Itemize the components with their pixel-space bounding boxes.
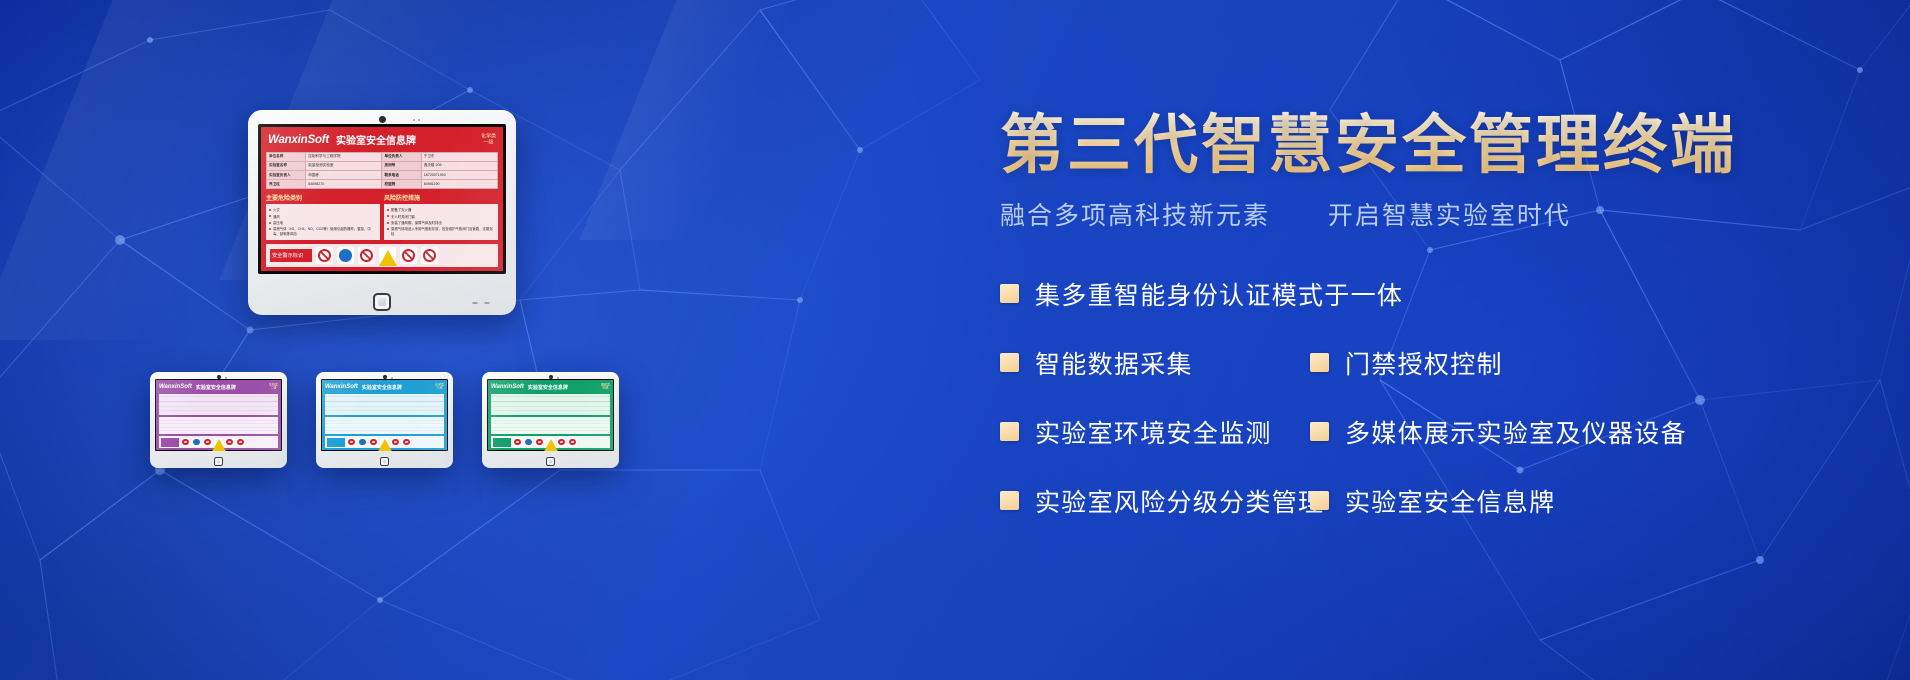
- no-smoking-icon: [347, 438, 356, 447]
- bullet-dot-icon: [269, 209, 271, 211]
- list-item-label: 配备了灭火器: [391, 207, 411, 212]
- board-table-placeholder: [491, 394, 610, 415]
- cell-key: 房间号: [382, 161, 421, 170]
- cell-key: 实验室名称: [267, 161, 306, 170]
- list-item-label: 火灾: [273, 207, 280, 212]
- table-row: 养卫柱 84698270 校医院 84981190: [267, 180, 498, 189]
- safety-signs-row: [159, 436, 278, 448]
- bullet-dot-icon: [269, 215, 271, 217]
- board-sections-placeholder: [159, 417, 278, 434]
- cell-key: 联系电话: [382, 170, 421, 179]
- hazard-category-title: 主要危险类别: [266, 193, 380, 202]
- bullet-dot-icon: [387, 215, 389, 217]
- hazard-category-list: 火灾 通风 高压电: [266, 204, 380, 240]
- risk-level-badge: 生物类 二级: [269, 384, 278, 391]
- board-title: 实验室安全信息牌: [362, 384, 402, 391]
- bullet-dot-icon: [269, 228, 271, 230]
- subtitle-left: 融合多项高科技新元素: [1000, 202, 1270, 230]
- board-header: WanxinSoft 实验室安全信息牌 生物类 二级: [159, 382, 278, 392]
- sensor-dots-icon: [413, 119, 420, 121]
- tablet-reflection: [316, 470, 453, 525]
- feature-label: 集多重智能身份认证模式于一体: [1035, 276, 1403, 312]
- warning-hazard-icon: [380, 438, 389, 447]
- wanxinsoft-logo: WanxinSoft: [491, 384, 524, 390]
- no-entry-icon: [391, 438, 400, 447]
- wanxinsoft-logo: WanxinSoft: [325, 384, 358, 390]
- risk-level-badge: 化学类 一级: [481, 134, 496, 146]
- board-title: 实验室安全信息牌: [528, 384, 568, 391]
- cell-value: 申国栋: [306, 170, 382, 179]
- feature-item-access-control: 门禁授权控制: [1310, 345, 1503, 381]
- no-food-icon: [568, 438, 577, 447]
- small-tablet-device-1: WanxinSoft 实验室安全信息牌 生物类 二级: [150, 372, 287, 468]
- feature-item-safety-board: 实验室安全信息牌: [1310, 483, 1555, 519]
- home-button[interactable]: [546, 457, 555, 466]
- board-header: WanxinSoft 实验室安全信息牌 化学类 一级: [266, 131, 498, 149]
- list-item-label: 安装了通风橱，保障气体及时排出: [391, 220, 442, 225]
- list-item-label: 易燃气体（H2、CH4、NO、CO2等）使用引起的爆炸、窒息、中毒、缺氧等风险: [273, 227, 377, 237]
- cell-value: 能量检测实验室: [306, 161, 382, 170]
- bullet-square-icon: [1310, 353, 1329, 372]
- risk-control-title: 风险防控措施: [384, 193, 498, 202]
- risk-level-badge: 化学类 三级: [435, 384, 444, 391]
- list-item: 无人时关闭门窗: [387, 214, 495, 219]
- table-row: 实验室负责人 申国栋 联系电话 18720071900: [267, 170, 498, 179]
- bullet-dot-icon: [387, 228, 389, 230]
- board-title: 实验室安全信息牌: [336, 132, 416, 147]
- tablet-reflection: [150, 470, 287, 525]
- front-camera-icon: [379, 116, 386, 123]
- bullet-square-icon: [1000, 284, 1019, 303]
- bullet-square-icon: [1000, 353, 1019, 372]
- wear-goggles-icon: [358, 438, 367, 447]
- feature-row: 实验室环境安全监测 多媒体展示实验室及仪器设备: [1000, 414, 1880, 450]
- safety-signs-label: 安全警示标识: [270, 249, 312, 262]
- small-tablet-screen-2[interactable]: WanxinSoft 实验室安全信息牌 化学类 三级: [321, 379, 448, 451]
- small-tablet-screen-1[interactable]: WanxinSoft 实验室安全信息牌 生物类 二级: [155, 379, 282, 451]
- feature-item-multimedia-display: 多媒体展示实验室及仪器设备: [1310, 414, 1687, 450]
- board-table-placeholder: [159, 394, 278, 415]
- feature-label: 实验室安全信息牌: [1345, 483, 1555, 519]
- safety-signs-row: [491, 436, 610, 448]
- page-subtitle: 融合多项高科技新元素 开启智慧实验室时代: [1000, 196, 1880, 232]
- risk-level-grade: 三级: [436, 386, 442, 390]
- risk-level-grade: 四级: [602, 386, 608, 390]
- no-food-icon: [402, 438, 411, 447]
- no-food-icon: [236, 438, 245, 447]
- list-item: 易燃气体（H2、CH4、NO、CO2等）使用引起的爆炸、窒息、中毒、缺氧等风险: [269, 227, 377, 237]
- cell-key: 养卫柱: [267, 180, 306, 189]
- feature-row: 智能数据采集 门禁授权控制: [1000, 345, 1880, 381]
- list-item: 火灾: [269, 207, 377, 212]
- feature-item-identity-auth: 集多重智能身份认证模式于一体: [1000, 276, 1403, 312]
- warning-hazard-icon: [546, 438, 555, 447]
- safety-signs-row: 安全警示标识: [266, 244, 498, 267]
- no-open-flame-icon: [358, 247, 375, 264]
- board-header: WanxinSoft 实验室安全信息牌 辐射类 四级: [491, 382, 610, 392]
- bullet-square-icon: [1000, 422, 1019, 441]
- list-item: 易燃气体用品入专用气瓶柜存放，检查维护气瓶阀门及管路，定期巡检: [387, 227, 495, 237]
- small-tablet-screen-3[interactable]: WanxinSoft 实验室安全信息牌 辐射类 四级: [487, 379, 614, 451]
- wear-goggles-icon: [192, 438, 201, 447]
- bullet-dot-icon: [269, 222, 271, 224]
- warning-hazard-icon: [214, 438, 223, 447]
- feature-label: 门禁授权控制: [1345, 345, 1503, 381]
- safety-info-board: WanxinSoft 实验室安全信息牌 化学类 三级: [322, 380, 447, 450]
- feature-label: 实验室风险分级分类管理: [1035, 483, 1324, 519]
- safety-signs-label: [493, 438, 511, 447]
- cell-key: 单位负责人: [382, 152, 421, 161]
- no-food-icon: [421, 247, 438, 264]
- safety-signs-label: [327, 438, 345, 447]
- wear-goggles-icon: [524, 438, 533, 447]
- hazard-category-section: 主要危险类别 火灾 通风: [266, 193, 380, 240]
- risk-control-section: 风险防控措施 配备了灭火器 无人时关闭门窗: [384, 193, 498, 240]
- no-entry-icon: [400, 247, 417, 264]
- main-tablet-screen[interactable]: WanxinSoft 实验室安全信息牌 化学类 一级 单位名称 控制科学与工程学…: [258, 124, 506, 274]
- list-item: 配备了灭火器: [387, 207, 495, 212]
- home-button[interactable]: [214, 457, 223, 466]
- list-item-label: 无人时关闭门窗: [391, 214, 415, 219]
- cell-key: 实验室负责人: [267, 170, 306, 179]
- feature-label: 实验室环境安全监测: [1035, 414, 1272, 450]
- cell-value: 于卫东: [421, 152, 497, 161]
- bullet-dot-icon: [387, 222, 389, 224]
- board-title: 实验室安全信息牌: [196, 384, 236, 391]
- page-title: 第三代智慧安全管理终端: [1000, 110, 1880, 182]
- safety-signs-label: [161, 438, 179, 447]
- board-table-placeholder: [325, 394, 444, 415]
- list-item: 安装了通风橱，保障气体及时排出: [387, 220, 495, 225]
- feature-item-data-collection: 智能数据采集: [1000, 345, 1310, 381]
- safety-info-board: WanxinSoft 实验室安全信息牌 生物类 二级: [156, 380, 281, 450]
- list-item: 高压电: [269, 220, 377, 225]
- warning-hazard-icon: [379, 247, 396, 264]
- lab-info-table-body: 单位名称 控制科学与工程学院 单位负责人 于卫东 实验室名称 能量检测实验室 房…: [267, 152, 498, 189]
- home-button[interactable]: [380, 457, 389, 466]
- tablet-reflection: [482, 470, 619, 525]
- banner-copy: 第三代智慧安全管理终端 融合多项高科技新元素 开启智慧实验室时代 集多重智能身份…: [1000, 110, 1880, 552]
- wear-goggles-icon: [337, 247, 354, 264]
- no-smoking-icon: [181, 438, 190, 447]
- no-smoking-icon: [513, 438, 522, 447]
- safety-signs-row: [325, 436, 444, 448]
- board-sections-placeholder: [491, 417, 610, 434]
- safety-info-board: WanxinSoft 实验室安全信息牌 化学类 一级 单位名称 控制科学与工程学…: [261, 127, 503, 271]
- small-tablet-device-3: WanxinSoft 实验室安全信息牌 辐射类 四级: [482, 372, 619, 468]
- risk-level-badge: 辐射类 四级: [601, 384, 610, 391]
- cell-value: 18720071900: [421, 170, 497, 179]
- wanxinsoft-logo: WanxinSoft: [268, 134, 329, 146]
- subtitle-right: 开启智慧实验室时代: [1328, 202, 1571, 230]
- table-row: 单位名称 控制科学与工程学院 单位负责人 于卫东: [267, 152, 498, 161]
- hazard-sections: 主要危险类别 火灾 通风: [266, 193, 498, 240]
- cell-value: 84698270: [306, 180, 382, 189]
- list-item: 通风: [269, 214, 377, 219]
- no-smoking-icon: [316, 247, 333, 264]
- speaker-dots-icon: [472, 302, 490, 304]
- lab-info-table: 单位名称 控制科学与工程学院 单位负责人 于卫东 实验室名称 能量检测实验室 房…: [266, 152, 498, 190]
- list-item-label: 易燃气体用品入专用气瓶柜存放，检查维护气瓶阀门及管路，定期巡检: [391, 227, 495, 237]
- bullet-square-icon: [1310, 491, 1329, 510]
- board-header: WanxinSoft 实验室安全信息牌 化学类 三级: [325, 382, 444, 392]
- feature-list: 集多重智能身份认证模式于一体 智能数据采集 门禁授权控制 实验室环境安全监测: [1000, 276, 1880, 519]
- main-tablet-device: WanxinSoft 实验室安全信息牌 化学类 一级 单位名称 控制科学与工程学…: [248, 110, 516, 315]
- wanxinsoft-logo: WanxinSoft: [159, 384, 192, 390]
- cell-value: 84981190: [421, 180, 497, 189]
- risk-level-grade: 二级: [270, 386, 276, 390]
- risk-level-grade: 一级: [483, 139, 493, 145]
- cell-key: 单位名称: [267, 152, 306, 161]
- no-entry-icon: [225, 438, 234, 447]
- safety-info-board: WanxinSoft 实验室安全信息牌 辐射类 四级: [488, 380, 613, 450]
- home-button[interactable]: [373, 293, 391, 311]
- feature-item-env-monitoring: 实验室环境安全监测: [1000, 414, 1310, 450]
- feature-row: 集多重智能身份认证模式于一体: [1000, 276, 1880, 312]
- feature-label: 多媒体展示实验室及仪器设备: [1345, 414, 1687, 450]
- feature-row: 实验室风险分级分类管理 实验室安全信息牌: [1000, 483, 1880, 519]
- no-entry-icon: [557, 438, 566, 447]
- feature-item-risk-grading: 实验室风险分级分类管理: [1000, 483, 1310, 519]
- bullet-square-icon: [1000, 491, 1019, 510]
- cell-value: 控制科学与工程学院: [306, 152, 382, 161]
- feature-label: 智能数据采集: [1035, 345, 1193, 381]
- cell-value: 逸夫楼 205: [421, 161, 497, 170]
- list-item-label: 高压电: [273, 220, 283, 225]
- small-tablet-device-2: WanxinSoft 实验室安全信息牌 化学类 三级: [316, 372, 453, 468]
- promo-banner: WanxinSoft 实验室安全信息牌 化学类 一级 单位名称 控制科学与工程学…: [0, 0, 1910, 680]
- risk-control-list: 配备了灭火器 无人时关闭门窗 安装了通风橱，保障气体及时排出: [384, 204, 498, 240]
- list-item-label: 通风: [273, 214, 280, 219]
- table-row: 实验室名称 能量检测实验室 房间号 逸夫楼 205: [267, 161, 498, 170]
- bullet-square-icon: [1310, 422, 1329, 441]
- cell-key: 校医院: [382, 180, 421, 189]
- bullet-dot-icon: [387, 209, 389, 211]
- board-sections-placeholder: [325, 417, 444, 434]
